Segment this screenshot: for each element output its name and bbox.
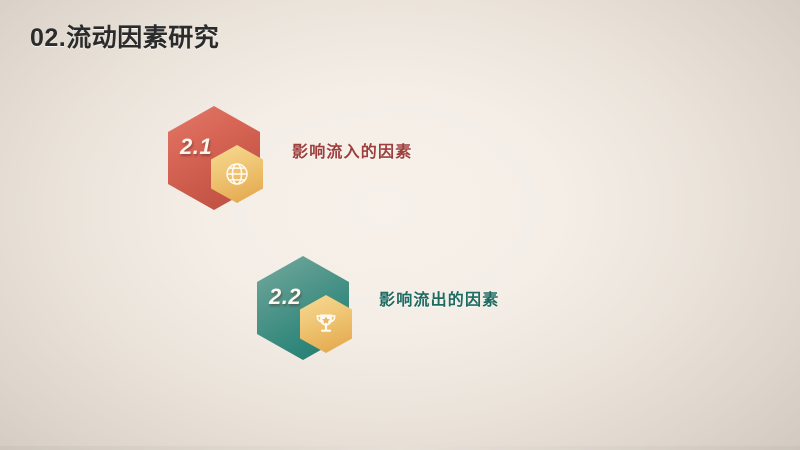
hexagon-number-2-2: 2.2 — [269, 284, 301, 310]
globe-icon — [224, 161, 250, 187]
list-item-caption-2-1: 影响流入的因素 — [292, 138, 412, 162]
hexagon-number-2-1: 2.1 — [180, 134, 212, 160]
list-item-caption-2-2: 影响流出的因素 — [379, 286, 499, 310]
trophy-icon — [313, 311, 339, 337]
page-title: 02.流动因素研究 — [30, 18, 219, 54]
slide-canvas: 02.流动因素研究 2.1 影响流入的因素 2.2 — [0, 0, 800, 450]
